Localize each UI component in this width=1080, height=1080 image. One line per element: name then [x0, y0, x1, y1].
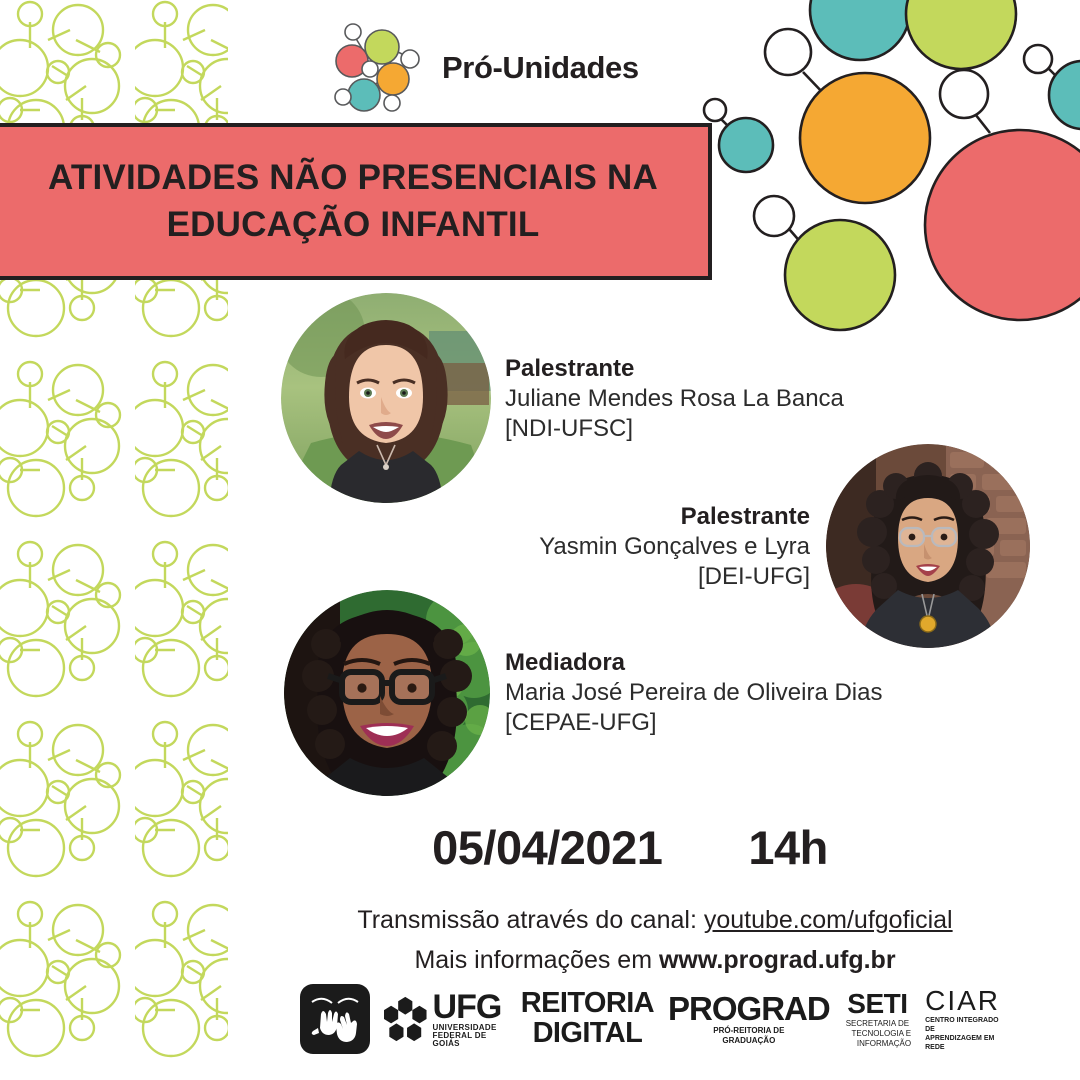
title-line-1: ATIVIDADES NÃO PRESENCIAIS NA — [48, 155, 658, 201]
speaker-1-unit: [NDI-UFSC] — [505, 414, 844, 444]
reitoria-line-2: DIGITAL — [533, 1019, 643, 1049]
speaker-3-info: Mediadora Maria José Pereira de Oliveira… — [505, 648, 882, 739]
broadcast-prefix: Transmissão através do canal: — [357, 906, 703, 934]
event-date: 05/04/2021 — [432, 820, 662, 875]
ufg-acronym: UFG — [433, 990, 507, 1024]
prograd-acronym: PROGRAD — [668, 992, 830, 1027]
speaker-2-name: Yasmin Gonçalves e Lyra — [430, 532, 810, 562]
portrait-juliane-icon — [281, 293, 491, 503]
prograd-line-2: GRADUAÇÃO — [722, 1036, 775, 1046]
seti-line-2: TECNOLOGIA E INFORMAÇÃO — [844, 1029, 911, 1049]
speaker-2-unit: [DEI-UFG] — [430, 562, 810, 592]
speaker-1-role: Palestrante — [505, 354, 844, 384]
top-right-decorative-circles — [690, 0, 1080, 350]
ciar-line-1: CENTRO INTEGRADO DE — [925, 1016, 1000, 1034]
seti-acronym: SETI — [847, 989, 907, 1018]
brand-logo: Pró-Unidades — [330, 18, 630, 118]
ciar-line-2: APRENDIZAGEM EM REDE — [925, 1034, 1000, 1052]
event-poster: Pró-Unidades ATIVIDADES NÃO PRESENCIAIS … — [0, 0, 1080, 1080]
broadcast-info: Transmissão através do canal: youtube.co… — [230, 902, 1080, 979]
speaker-3-unit: [CEPAE-UFG] — [505, 708, 882, 738]
reitoria-line-1: REITORIA — [521, 989, 654, 1019]
broadcast-channel-line: Transmissão através do canal: youtube.co… — [230, 902, 1080, 938]
avatar — [281, 293, 491, 503]
ciar-acronym: CIAR — [925, 986, 1000, 1015]
circles-cluster-icon — [690, 0, 1080, 350]
speaker-1-info: Palestrante Juliane Mendes Rosa La Banca… — [505, 354, 844, 445]
speaker-3-role: Mediadora — [505, 648, 882, 678]
youtube-channel-link[interactable]: youtube.com/ufgoficial — [704, 906, 953, 934]
speaker-3-name: Maria José Pereira de Oliveira Dias — [505, 678, 882, 708]
seti-line-1: SECRETARIA DE — [846, 1019, 909, 1029]
prograd-site-link[interactable]: www.prograd.ufg.br — [659, 946, 896, 974]
speaker-2-role: Palestrante — [430, 502, 810, 532]
footer-logos: UFG UNIVERSIDADE FEDERAL DE GOIÁS REITOR… — [300, 978, 1000, 1060]
speaker-1-name: Juliane Mendes Rosa La Banca — [505, 384, 844, 414]
more-info-prefix: Mais informações em — [414, 946, 659, 974]
reitoria-digital-logo: REITORIA DIGITAL — [521, 989, 654, 1048]
brand-logo-text: Pró-Unidades — [442, 50, 639, 86]
portrait-yasmin-icon — [826, 444, 1030, 648]
ciar-logo: CIAR CENTRO INTEGRADO DE APRENDIZAGEM EM… — [925, 986, 1000, 1052]
portrait-maria-jose-icon — [284, 590, 490, 796]
prograd-logo: PROGRAD PRÓ-REITORIA DE GRADUAÇÃO — [668, 992, 830, 1047]
molecule-nodes-icon — [330, 19, 428, 117]
libras-logo — [300, 984, 370, 1054]
event-time: 14h — [748, 820, 828, 875]
title-line-2: EDUCAÇÃO INFANTIL — [167, 202, 540, 248]
more-info-line: Mais informações em www.prograd.ufg.br — [230, 942, 1080, 978]
seti-logo: SETI SECRETARIA DE TECNOLOGIA E INFORMAÇ… — [844, 989, 911, 1048]
ufg-line-2: FEDERAL DE GOIÁS — [433, 1032, 507, 1048]
speaker-2-info: Palestrante Yasmin Gonçalves e Lyra [DEI… — [430, 502, 810, 593]
sign-language-hands-icon — [300, 984, 370, 1054]
prograd-line-1: PRÓ-REITORIA DE — [713, 1026, 784, 1036]
title-banner: ATIVIDADES NÃO PRESENCIAIS NA EDUCAÇÃO I… — [0, 123, 712, 280]
ufg-hexagons-icon — [384, 993, 427, 1045]
avatar — [284, 590, 490, 796]
event-datetime: 05/04/2021 14h — [250, 812, 1010, 882]
avatar — [826, 444, 1030, 648]
ufg-logo: UFG UNIVERSIDADE FEDERAL DE GOIÁS — [384, 990, 507, 1048]
